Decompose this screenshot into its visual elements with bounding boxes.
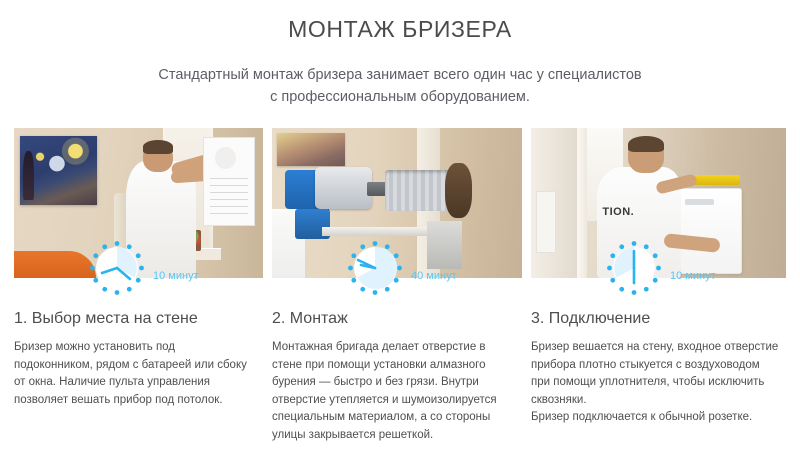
- door-frame: [577, 128, 587, 278]
- page-subtitle: Стандартный монтаж бризера занимает всег…: [100, 64, 700, 108]
- steps-row: 10 минут 1. Выбор места на стене Бризер …: [14, 128, 786, 458]
- step-body-2: Монтажная бригада делает отверстие в сте…: [272, 339, 522, 444]
- clock-icon: [88, 239, 146, 297]
- subtitle-line: с профессиональным оборудованием.: [100, 86, 700, 108]
- clock-icon: [346, 239, 404, 297]
- body-line: отверстие утепляется и шумоизолируется: [272, 392, 522, 410]
- body-line: позволяет вешать прибор под потолок.: [14, 392, 263, 410]
- body-line: специальным материалом, а со стороны: [272, 409, 522, 427]
- clock-icon: [605, 239, 663, 297]
- subtitle-line: Стандартный монтаж бризера занимает всег…: [100, 64, 700, 86]
- duration-badge-2: 40 минут: [346, 239, 457, 297]
- step-title-2: 2. Монтаж: [272, 308, 522, 330]
- spirit-level: [689, 175, 740, 186]
- body-line: улицы закрывается решеткой.: [272, 427, 522, 445]
- mounting-template-sheet: [203, 137, 255, 226]
- shirt-logo: TION.: [602, 206, 643, 224]
- step-card-1: 10 минут 1. Выбор места на стене Бризер …: [14, 128, 263, 458]
- radiator-panel: [536, 191, 556, 253]
- body-line: стене при помощи установки алмазного: [272, 357, 522, 375]
- drill-gearbox: [315, 167, 373, 209]
- core-drill-barrel: [385, 170, 450, 211]
- page-title: МОНТАЖ БРИЗЕРА: [0, 14, 800, 44]
- installer-hair: [628, 136, 664, 153]
- step-title-1: 1. Выбор места на стене: [14, 308, 263, 330]
- body-line: прибора плотно стыкуется с воздуховодом: [531, 357, 786, 375]
- body-line: от окна. Наличие пульта управления: [14, 374, 263, 392]
- drill-crown: [445, 163, 473, 219]
- painting-starry-night: [20, 136, 97, 205]
- step-card-2: 40 минут 2. Монтаж Монтажная бригада дел…: [272, 128, 522, 458]
- body-line: бурения — быстро и без грязи. Внутри: [272, 374, 522, 392]
- body-line: сквозняки.: [531, 392, 786, 410]
- install-steps-page: МОНТАЖ БРИЗЕРА Стандартный монтаж бризер…: [0, 0, 800, 473]
- body-line: подоконником, рядом с батареей или сбоку: [14, 357, 263, 375]
- sofa: [14, 251, 96, 278]
- installer-hair: [143, 140, 173, 154]
- step-title-3: 3. Подключение: [531, 308, 786, 330]
- body-line: при помощи уплотнителя, чтобы исключить: [531, 374, 786, 392]
- step-body-3: Бризер вешается на стену, входное отверс…: [531, 339, 786, 427]
- step-body-1: Бризер можно установить под подоконником…: [14, 339, 263, 409]
- duration-badge-1: 10 минут: [88, 239, 199, 297]
- step-card-3: TION.: [531, 128, 786, 458]
- body-line: Монтажная бригада делает отверстие в: [272, 339, 522, 357]
- duration-label: 10 минут: [670, 254, 716, 282]
- body-line: Бризер подключается к обычной розетке.: [531, 409, 786, 427]
- painting: [277, 133, 345, 166]
- duration-badge-3: 10 минут: [605, 239, 716, 297]
- body-line: Бризер вешается на стену, входное отверс…: [531, 339, 786, 357]
- duration-label: 10 минут: [153, 254, 199, 282]
- body-line: Бризер можно установить под: [14, 339, 263, 357]
- duration-label: 40 минут: [411, 254, 457, 282]
